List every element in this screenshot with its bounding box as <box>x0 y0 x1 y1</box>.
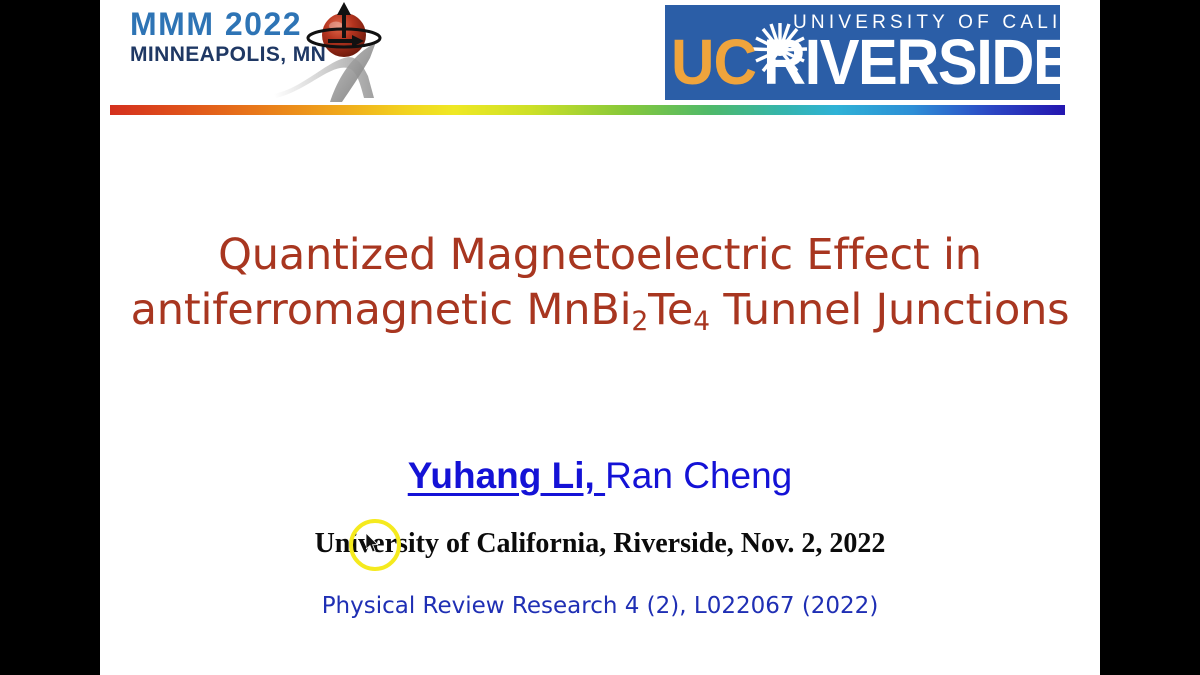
letterbox-left <box>0 0 100 675</box>
affiliation-and-date: University of California, Riverside, Nov… <box>100 525 1100 563</box>
slide-title-line-2-post: Tunnel Junctions <box>710 285 1069 335</box>
rainbow-gradient-bar <box>110 105 1065 115</box>
slide-title: Quantized Magnetoelectric Effect in anti… <box>100 228 1100 343</box>
spinning-top-magnet-icon <box>272 2 412 107</box>
presentation-screen: MMM 2022 MINNEAPOLIS, MN <box>0 0 1200 675</box>
author-presenter: Yuhang Li, <box>408 455 605 496</box>
slide-title-line-1: Quantized Magnetoelectric Effect in <box>100 228 1100 283</box>
university-logo-abbrev: UC <box>671 25 756 99</box>
journal-reference: Physical Review Research 4 (2), L022067 … <box>100 590 1100 622</box>
slide-title-subscript-2: 2 <box>631 306 648 337</box>
slide-canvas: MMM 2022 MINNEAPOLIS, MN <box>100 0 1100 675</box>
slide-header: MMM 2022 MINNEAPOLIS, MN <box>100 0 1100 115</box>
university-logo: UNIVERSITY OF CALIFORNIA UC RIVERSIDE <box>665 5 1060 100</box>
author-line: Yuhang Li, Ran Cheng <box>100 453 1100 498</box>
slide-title-subscript-4: 4 <box>693 306 710 337</box>
university-logo-name: RIVERSIDE <box>763 25 1060 99</box>
slide-title-line-2: antiferromagnetic MnBi2Te4 Tunnel Juncti… <box>100 283 1100 343</box>
conference-logo: MMM 2022 MINNEAPOLIS, MN <box>122 2 412 107</box>
author-coauthor: Ran Cheng <box>605 455 792 496</box>
slide-title-line-2-mid: Te <box>648 285 693 335</box>
letterbox-right <box>1100 0 1200 675</box>
slide-title-line-2-pre: antiferromagnetic MnBi <box>131 285 632 335</box>
